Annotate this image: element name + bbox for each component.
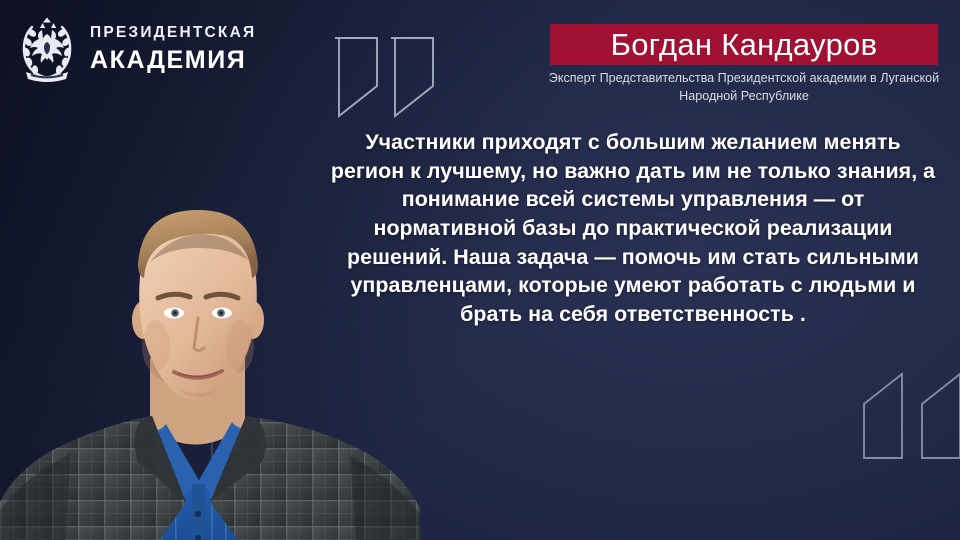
quotation-mark-close-icon — [858, 372, 960, 460]
quotation-mark-open-icon — [333, 36, 437, 118]
quote-card-slide: ПРЕЗИДЕНТСКАЯ АКАДЕМИЯ Богдан Кандауров … — [0, 0, 960, 540]
speaker-role: Эксперт Представительства Президентской … — [548, 70, 940, 106]
brand-logo: ПРЕЗИДЕНТСКАЯ АКАДЕМИЯ — [18, 16, 256, 82]
quote-text: Участники приходят с большим желанием ме… — [330, 128, 936, 329]
speaker-name-banner: Богдан Кандауров — [550, 24, 938, 65]
brand-line-1: ПРЕЗИДЕНТСКАЯ — [90, 25, 256, 41]
double-headed-eagle-emblem-icon — [18, 16, 76, 82]
brand-line-2: АКАДЕМИЯ — [90, 48, 256, 73]
speaker-name: Богдан Кандауров — [611, 29, 878, 60]
